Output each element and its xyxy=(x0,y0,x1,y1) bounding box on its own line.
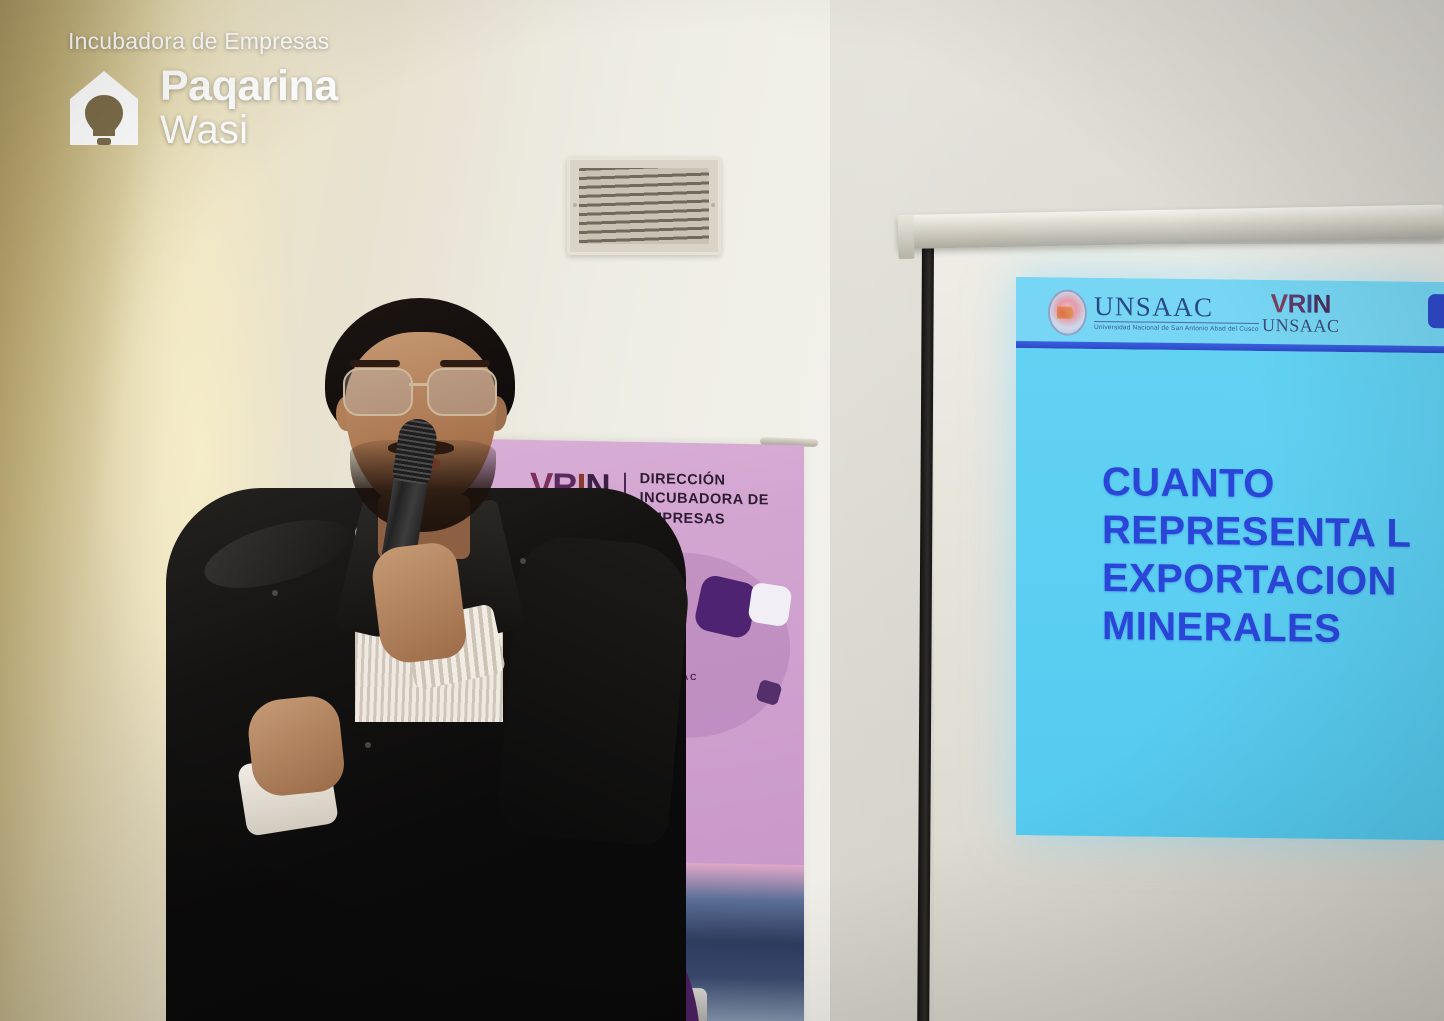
eyeglass-lens-left xyxy=(343,368,413,416)
jacket-button xyxy=(365,742,371,748)
overlay-tagline: Incubadora de Empresas xyxy=(68,28,338,55)
speaker-eyebrow-right xyxy=(440,360,490,367)
speaker xyxy=(110,290,690,1021)
eyeglass-bridge xyxy=(409,383,429,386)
third-partner-logo xyxy=(1428,294,1444,328)
slide-title-line: MINERALES xyxy=(1102,602,1444,654)
speaker-eyebrow-left xyxy=(350,360,400,367)
unsaac-logo: UNSAAC Universidad Nacional de San Anton… xyxy=(1048,289,1259,338)
vent-screw xyxy=(711,203,715,207)
jacket-button xyxy=(520,558,526,564)
speaker-gesturing-hand xyxy=(245,693,347,798)
house-lightbulb-icon xyxy=(68,69,140,147)
vrin-wordmark-bottom: UNSAAC xyxy=(1262,316,1340,335)
overlay-brand-names: Paqarina Wasi xyxy=(160,65,338,150)
projected-slide: UNSAAC Universidad Nacional de San Anton… xyxy=(1016,277,1444,840)
overlay-brand-line1: Paqarina xyxy=(160,65,338,108)
unsaac-subtitle: Universidad Nacional de San Antonio Abad… xyxy=(1094,321,1259,333)
slide-title-line: EXPORTACION xyxy=(1102,554,1444,606)
slide-title-line: REPRESENTA L xyxy=(1102,506,1444,558)
unsaac-wordmark: UNSAAC xyxy=(1094,294,1259,322)
slide-header-band: UNSAAC Universidad Nacional de San Anton… xyxy=(1016,277,1444,346)
slide-title: CUANTO REPRESENTA L EXPORTACION MINERALE… xyxy=(1102,458,1444,654)
banner-square-decor xyxy=(747,582,792,628)
eyeglasses-icon xyxy=(339,368,509,412)
vent-screw xyxy=(573,203,577,207)
brand-overlay: Incubadora de Empresas Paqarina Wasi xyxy=(68,28,338,150)
slide-title-line: CUANTO xyxy=(1102,458,1444,510)
vrin-wordmark-top: VRIN xyxy=(1262,290,1340,317)
jacket-button xyxy=(272,590,278,596)
eyeglass-lens-right xyxy=(427,368,497,416)
wall-air-vent xyxy=(567,157,721,255)
vent-louvers xyxy=(579,168,709,244)
roller-end-cap xyxy=(898,215,915,259)
screenshot-root: UNSAAC Universidad Nacional de San Anton… xyxy=(0,0,1444,1021)
unsaac-seal-icon xyxy=(1048,289,1087,335)
speaker-right-arm xyxy=(495,533,692,847)
vrin-logo: VRIN UNSAAC xyxy=(1262,290,1340,335)
overlay-brand-line2: Wasi xyxy=(160,110,338,150)
speaker-hand-holding-mic xyxy=(369,540,468,666)
